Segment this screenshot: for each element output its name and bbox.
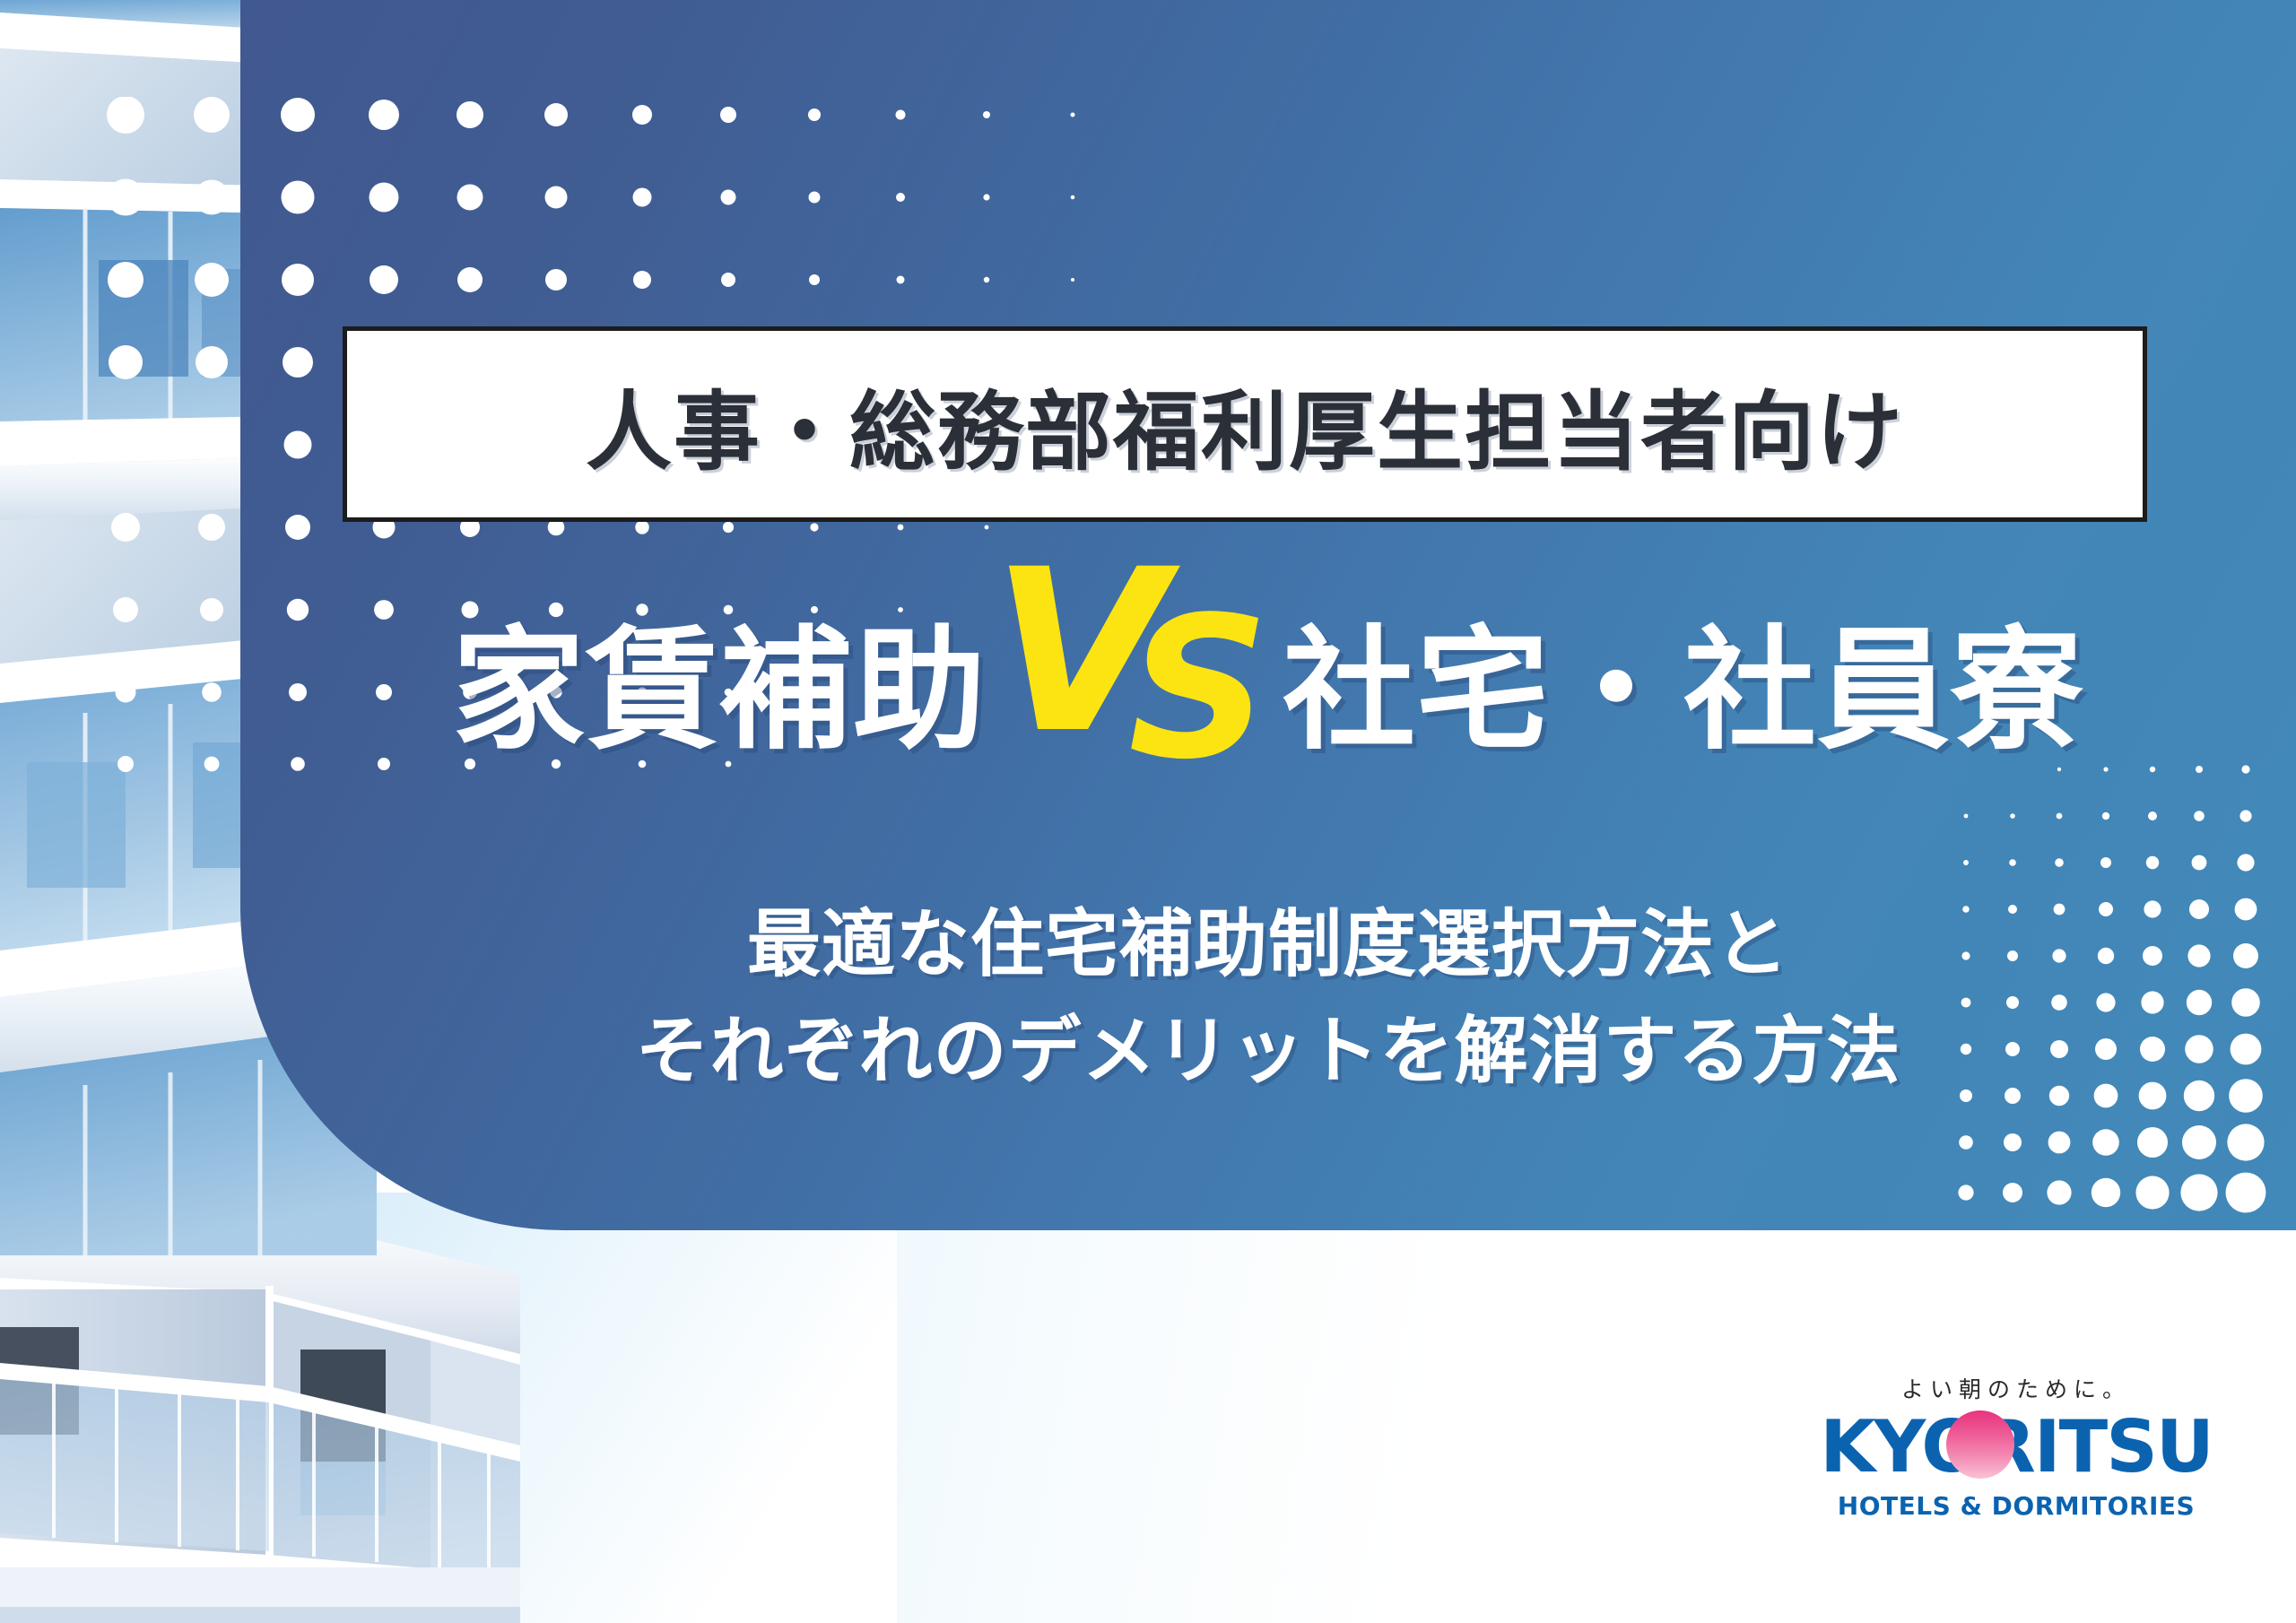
sunrise-circle-icon xyxy=(1946,1410,2014,1479)
versus-letter-s: S xyxy=(1128,592,1269,787)
bottom-building-photo xyxy=(0,1193,897,1623)
logo-brand-text: KYORITSU xyxy=(1820,1411,2213,1483)
logo-wordmark: KYORITSU xyxy=(1837,1410,2196,1485)
logo-tagline: よい朝のために。 xyxy=(1837,1372,2196,1404)
subtitle-line-1: 最適な住宅補助制度選択方法と xyxy=(240,892,2296,999)
bottom-building-illustration xyxy=(0,1193,897,1623)
eyebrow-heading-label: 人事・総務部福利厚生担当者向け xyxy=(586,362,1904,487)
subtitle-line-2: それぞれのデメリットを解消する方法 xyxy=(240,999,2296,1106)
title-right-label: 社宅・社員寮 xyxy=(1283,624,2084,757)
hero-banner: 人事・総務部福利厚生担当者向け 家賃補助 V S 社宅・社員寮 最適な住宅補助制… xyxy=(0,0,2296,1623)
main-title-row: 家賃補助 V S 社宅・社員寮 xyxy=(240,556,2296,825)
versus-badge: V S xyxy=(987,556,1283,825)
title-left-label: 家賃補助 xyxy=(452,624,987,757)
subtitle-block: 最適な住宅補助制度選択方法と それぞれのデメリットを解消する方法 xyxy=(240,892,2296,1106)
eyebrow-heading-box: 人事・総務部福利厚生担当者向け xyxy=(343,326,2147,522)
logo-subline: HOTELS & DORMITORIES xyxy=(1837,1491,2196,1521)
kyoritsu-logo: よい朝のために。 KYORITSU HOTELS & DORMITORIES xyxy=(1837,1372,2196,1542)
